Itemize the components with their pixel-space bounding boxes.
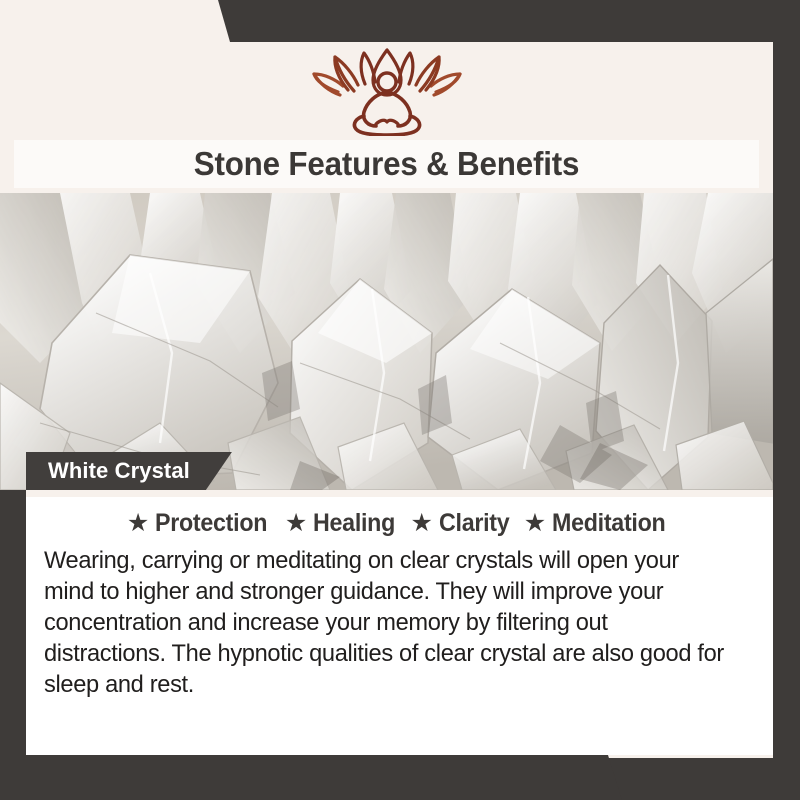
photo-caption-badge: White Crystal bbox=[26, 452, 232, 490]
benefit-item: ★ Healing bbox=[285, 509, 402, 538]
benefit-label: Protection bbox=[155, 509, 267, 538]
benefit-label: Healing bbox=[313, 509, 395, 538]
lotus-meditation-icon bbox=[302, 44, 472, 141]
white-crystal-cluster-photo bbox=[0, 193, 773, 490]
page-title: Stone Features & Benefits bbox=[19, 141, 753, 187]
star-icon: ★ bbox=[524, 511, 546, 536]
benefits-list: ★ Protection ★ Healing ★ Clarity ★ Medit… bbox=[26, 509, 775, 538]
description-text: Wearing, carrying or meditating on clear… bbox=[44, 545, 732, 700]
frame-accent-right bbox=[773, 0, 800, 800]
frame-accent-left bbox=[0, 490, 26, 800]
star-icon: ★ bbox=[285, 511, 307, 536]
benefit-label: Meditation bbox=[552, 509, 665, 538]
benefit-item: ★ Clarity bbox=[411, 509, 515, 538]
infographic-card: BUDDHA STONES Stone Features & Benefits bbox=[0, 0, 800, 800]
benefit-item: ★ Meditation bbox=[524, 509, 674, 538]
star-icon: ★ bbox=[127, 511, 149, 536]
photo-caption-label: White Crystal bbox=[48, 458, 190, 484]
benefit-item: ★ Protection bbox=[127, 509, 276, 538]
benefit-label: Clarity bbox=[439, 509, 509, 538]
star-icon: ★ bbox=[411, 511, 433, 536]
content-panel: ★ Protection ★ Healing ★ Clarity ★ Medit… bbox=[26, 497, 775, 755]
frame-accent-bottom bbox=[0, 755, 800, 800]
